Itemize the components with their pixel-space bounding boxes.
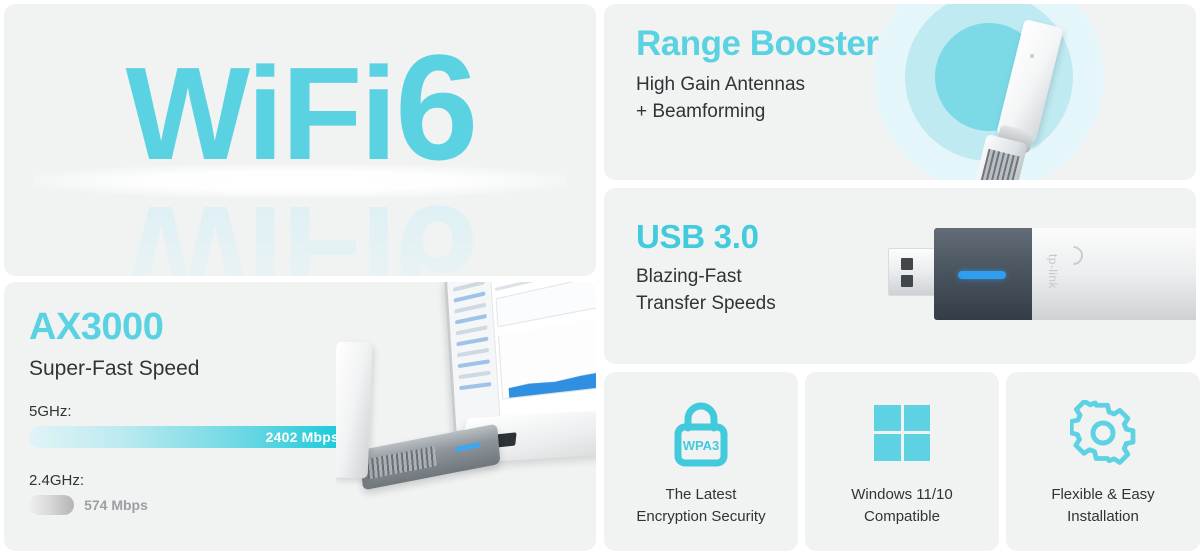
feature-card-windows: Windows 11/10 Compatible <box>805 372 999 551</box>
speed-bar-24ghz <box>29 495 74 515</box>
usb30-subtitle-line2: Transfer Speeds <box>636 290 776 318</box>
wifi6-logo-reflection: WiFi6 <box>126 184 475 276</box>
range-booster-card: Range Booster High Gain Antennas + Beamf… <box>604 4 1196 180</box>
product-feature-board: WiFi6 WiFi6 AX3000 Super-Fast Speed 5GHz… <box>0 0 1200 555</box>
speed-value-24ghz: 574 Mbps <box>84 497 148 513</box>
usb-led-indicator <box>958 271 1006 279</box>
usb30-card: USB 3.0 Blazing-Fast Transfer Speeds tp-… <box>604 188 1196 364</box>
feature-label-installation: Flexible & Easy Installation <box>1051 484 1154 528</box>
antenna-adapter-graphic <box>958 18 1108 180</box>
feature-label-windows-line1: Windows 11/10 <box>851 484 952 506</box>
wpa3-badge-text: WPA3 <box>683 438 720 453</box>
feature-label-encryption-line1: The Latest <box>636 484 765 506</box>
tplink-logo-text: tp-link <box>1046 254 1060 289</box>
ax3000-content: AX3000 Super-Fast Speed 5GHz: 2402 Mbps … <box>29 308 389 515</box>
usb30-subtitle-line1: Blazing-Fast <box>636 263 776 291</box>
usb30-content: USB 3.0 Blazing-Fast Transfer Speeds <box>636 220 776 318</box>
range-booster-subtitle: High Gain Antennas + Beamforming <box>636 71 878 126</box>
ax3000-speed-card: AX3000 Super-Fast Speed 5GHz: 2402 Mbps … <box>4 282 596 551</box>
wifi6-number-reflection: 6 <box>395 175 474 276</box>
laptop-screen-dashboard <box>494 282 596 421</box>
range-booster-content: Range Booster High Gain Antennas + Beamf… <box>636 26 878 126</box>
usb30-subtitle: Blazing-Fast Transfer Speeds <box>636 263 776 318</box>
speed-value-5ghz: 2402 Mbps <box>266 429 339 445</box>
band-label-24ghz: 2.4GHz: <box>29 472 389 489</box>
wifi6-hero-card: WiFi6 WiFi6 <box>4 4 596 276</box>
usb30-title: USB 3.0 <box>636 220 776 255</box>
windows-logo-icon <box>874 396 930 470</box>
range-booster-title: Range Booster <box>636 26 878 63</box>
usb-adapter-antenna <box>336 341 372 478</box>
laptop-screen <box>444 282 596 434</box>
wifi6-word-reflection: WiFi <box>126 179 395 276</box>
speed-bar-row-24ghz: 574 Mbps <box>29 495 389 515</box>
usb-adapter-graphic: tp-link <box>888 228 1196 320</box>
usb-connector <box>888 248 938 296</box>
speed-bar-5ghz: 2402 Mbps <box>29 426 351 448</box>
range-booster-subtitle-line2: + Beamforming <box>636 98 878 126</box>
feature-label-encryption-line2: Encryption Security <box>636 506 765 528</box>
padlock-wpa3-icon: WPA3 <box>668 396 734 470</box>
gear-icon <box>1070 396 1136 470</box>
speed-bar-row-5ghz: 2402 Mbps <box>29 426 389 448</box>
band-label-5ghz: 5GHz: <box>29 403 389 420</box>
wifi6-number: 6 <box>395 23 474 191</box>
laptop-adapter-photo <box>336 282 596 551</box>
ax3000-title: AX3000 <box>29 308 389 346</box>
feature-card-installation: Flexible & Easy Installation <box>1006 372 1200 551</box>
ax3000-subtitle: Super-Fast Speed <box>29 358 389 379</box>
range-booster-subtitle-line1: High Gain Antennas <box>636 71 878 99</box>
wifi6-logo: WiFi6 <box>126 32 475 182</box>
feature-label-installation-line2: Installation <box>1051 506 1154 528</box>
wifi6-logo-block: WiFi6 WiFi6 <box>4 4 596 276</box>
usb-adapter-body <box>360 424 501 491</box>
feature-label-windows-line2: Compatible <box>851 506 952 528</box>
laptop-screen-sidebar <box>447 282 501 431</box>
feature-card-encryption: WPA3 The Latest Encryption Security <box>604 372 798 551</box>
feature-label-windows: Windows 11/10 Compatible <box>851 484 952 528</box>
feature-label-installation-line1: Flexible & Easy <box>1051 484 1154 506</box>
wifi6-word: WiFi <box>126 40 395 187</box>
feature-label-encryption: The Latest Encryption Security <box>636 484 765 528</box>
